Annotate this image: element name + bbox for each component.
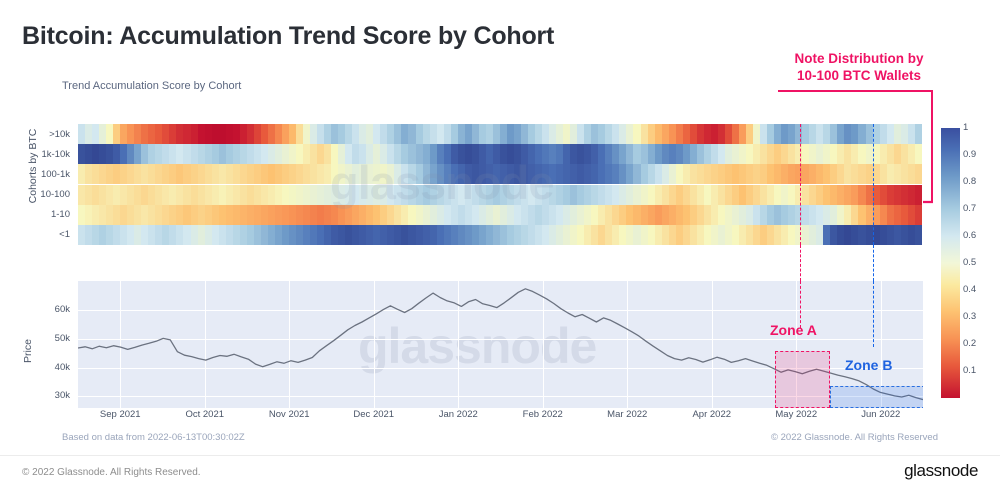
heatmap-cell — [408, 164, 415, 184]
heatmap-cell — [155, 144, 162, 164]
heatmap-cell — [366, 225, 373, 245]
heatmap-cell — [472, 124, 479, 144]
heatmap-cell — [605, 144, 612, 164]
heatmap-y-tick-label: 100-1k — [22, 164, 74, 184]
heatmap-cell — [198, 124, 205, 144]
heatmap-cell — [858, 205, 865, 225]
heatmap-cell — [254, 164, 261, 184]
heatmap-cell — [106, 205, 113, 225]
heatmap-cell — [205, 185, 212, 205]
heatmap-cell — [275, 185, 282, 205]
heatmap-cell — [837, 124, 844, 144]
heatmap-cell — [92, 225, 99, 245]
heatmap-cell — [908, 225, 915, 245]
heatmap-cell — [141, 185, 148, 205]
heatmap-cell — [233, 185, 240, 205]
heatmap-cell — [584, 205, 591, 225]
heatmap-cell — [612, 185, 619, 205]
heatmap-cell — [809, 144, 816, 164]
heatmap-cell — [106, 124, 113, 144]
heatmap-cell — [183, 185, 190, 205]
heatmap-cell — [380, 124, 387, 144]
heatmap-cell — [99, 124, 106, 144]
heatmap-cell — [296, 205, 303, 225]
heatmap-cell — [296, 164, 303, 184]
source-note: Based on data from 2022-06-13T00:30:02Z — [62, 432, 245, 443]
heatmap-cell — [373, 205, 380, 225]
heatmap-cell — [486, 225, 493, 245]
heatmap-cell — [697, 225, 704, 245]
heatmap-y-tick-label: 1k-10k — [22, 144, 74, 164]
heatmap-cell — [669, 144, 676, 164]
heatmap-cell — [437, 124, 444, 144]
heatmap-cell — [106, 225, 113, 245]
heatmap-cell — [423, 124, 430, 144]
heatmap-cell — [760, 144, 767, 164]
heatmap-cell — [373, 124, 380, 144]
heatmap-cell — [155, 124, 162, 144]
heatmap-cell — [317, 205, 324, 225]
price-y-tick-label: 60k — [55, 304, 70, 315]
heatmap-cell — [641, 144, 648, 164]
heatmap-cell — [99, 205, 106, 225]
heatmap-cell — [774, 205, 781, 225]
heatmap-cell — [549, 225, 556, 245]
heatmap-cell — [458, 124, 465, 144]
heatmap-cell — [451, 205, 458, 225]
heatmap-cell — [648, 225, 655, 245]
heatmap-cell — [352, 164, 359, 184]
heatmap-cell — [162, 185, 169, 205]
heatmap-y-tick-label: >10k — [22, 124, 74, 144]
heatmap-cell — [317, 164, 324, 184]
heatmap-cell — [465, 124, 472, 144]
heatmap-cell — [219, 144, 226, 164]
heatmap-cell — [240, 225, 247, 245]
colorbar-tick-label: 0.6 — [963, 230, 976, 241]
heatmap-cell — [99, 225, 106, 245]
heatmap-cell — [648, 124, 655, 144]
heatmap-cell — [465, 205, 472, 225]
heatmap-cell — [598, 185, 605, 205]
heatmap-cell — [387, 205, 394, 225]
heatmap-cell — [155, 205, 162, 225]
heatmap-cell — [655, 185, 662, 205]
heatmap-cell — [169, 205, 176, 225]
heatmap-row — [78, 205, 923, 225]
heatmap-cell — [760, 164, 767, 184]
heatmap-cell — [641, 185, 648, 205]
heatmap-cell — [394, 205, 401, 225]
heatmap-cell — [802, 164, 809, 184]
heatmap-cell — [549, 205, 556, 225]
heatmap-cell — [690, 124, 697, 144]
heatmap-cell — [908, 124, 915, 144]
heatmap-cell — [866, 124, 873, 144]
heatmap-cell — [641, 225, 648, 245]
heatmap-cell — [725, 225, 732, 245]
heatmap-cell — [183, 164, 190, 184]
heatmap-cell — [866, 185, 873, 205]
heatmap-cell — [809, 185, 816, 205]
heatmap-cell — [823, 124, 830, 144]
heatmap-cell — [711, 164, 718, 184]
heatmap-cell — [851, 144, 858, 164]
heatmap-cell — [394, 124, 401, 144]
heatmap-cell — [619, 144, 626, 164]
heatmap-cell — [619, 225, 626, 245]
heatmap-cell — [162, 164, 169, 184]
heatmap-cell — [915, 185, 922, 205]
heatmap-cell — [746, 205, 753, 225]
heatmap-cell — [725, 205, 732, 225]
heatmap-cell — [317, 225, 324, 245]
heatmap-cell — [106, 164, 113, 184]
heatmap-cell — [275, 225, 282, 245]
heatmap-cell — [373, 164, 380, 184]
heatmap-cell — [162, 144, 169, 164]
heatmap-cell — [605, 124, 612, 144]
colorbar-tick-label: 0.7 — [963, 203, 976, 214]
heatmap-cell — [781, 124, 788, 144]
heatmap-cell — [816, 225, 823, 245]
heatmap-cell — [169, 144, 176, 164]
x-axis-tick-labels: Sep 2021Oct 2021Nov 2021Dec 2021Jan 2022… — [0, 409, 1000, 425]
heatmap-cell — [774, 144, 781, 164]
heatmap-cell — [247, 124, 254, 144]
heatmap-cell — [718, 185, 725, 205]
heatmap-cell — [676, 164, 683, 184]
heatmap-cell — [626, 225, 633, 245]
heatmap-cell — [310, 164, 317, 184]
heatmap-cell — [141, 124, 148, 144]
heatmap-cell — [493, 185, 500, 205]
heatmap-cell — [648, 185, 655, 205]
annotation-connector-line — [931, 90, 933, 202]
heatmap-cell — [387, 164, 394, 184]
heatmap-cell — [169, 164, 176, 184]
heatmap-cell — [198, 144, 205, 164]
heatmap-cell — [577, 144, 584, 164]
heatmap-cell — [697, 144, 704, 164]
heatmap-cell — [113, 225, 120, 245]
heatmap-cell — [774, 164, 781, 184]
heatmap-cell — [901, 124, 908, 144]
heatmap-cell — [92, 124, 99, 144]
heatmap-cell — [648, 205, 655, 225]
heatmap-cell — [760, 225, 767, 245]
heatmap-cell — [704, 205, 711, 225]
heatmap-cell — [563, 205, 570, 225]
heatmap-cell — [331, 225, 338, 245]
heatmap-cell — [345, 205, 352, 225]
heatmap-cell — [662, 144, 669, 164]
heatmap-cell — [507, 185, 514, 205]
heatmap-row — [78, 185, 923, 205]
heatmap-cell — [816, 144, 823, 164]
heatmap-cell — [155, 185, 162, 205]
heatmap-cell — [683, 185, 690, 205]
heatmap-cell — [887, 124, 894, 144]
heatmap-cell — [795, 205, 802, 225]
heatmap-cell — [676, 225, 683, 245]
heatmap-cell — [416, 164, 423, 184]
heatmap-cell — [493, 164, 500, 184]
heatmap-cell — [556, 185, 563, 205]
heatmap-cell — [591, 124, 598, 144]
heatmap-cell — [444, 164, 451, 184]
heatmap-cell — [324, 124, 331, 144]
heatmap-cell — [310, 185, 317, 205]
heatmap-cell — [844, 205, 851, 225]
heatmap-cell — [401, 205, 408, 225]
heatmap-cell — [254, 225, 261, 245]
heatmap-cell — [282, 124, 289, 144]
heatmap-cell — [127, 225, 134, 245]
heatmap-cell — [563, 225, 570, 245]
price-y-tick-label: 40k — [55, 362, 70, 373]
heatmap-cell — [324, 205, 331, 225]
heatmap-cell — [866, 205, 873, 225]
heatmap-cell — [500, 225, 507, 245]
heatmap-cell — [605, 225, 612, 245]
heatmap-cell — [605, 185, 612, 205]
heatmap-cell — [739, 185, 746, 205]
heatmap-cell — [317, 124, 324, 144]
heatmap-cell — [570, 144, 577, 164]
heatmap-cell — [844, 185, 851, 205]
heatmap-cell — [718, 225, 725, 245]
heatmap-cell — [212, 205, 219, 225]
heatmap-cell — [106, 185, 113, 205]
heatmap-cell — [830, 185, 837, 205]
heatmap-cell — [669, 205, 676, 225]
heatmap-cell — [626, 205, 633, 225]
heatmap-cell — [648, 144, 655, 164]
heatmap-cell — [598, 144, 605, 164]
heatmap-cell — [233, 164, 240, 184]
heatmap-cell — [746, 185, 753, 205]
heatmap-cell — [915, 205, 922, 225]
heatmap-cell — [261, 225, 268, 245]
heatmap-cell — [120, 185, 127, 205]
heatmap-cell — [219, 205, 226, 225]
heatmap-cell — [830, 225, 837, 245]
heatmap-cell — [493, 124, 500, 144]
heatmap-cell — [774, 124, 781, 144]
heatmap-cell — [324, 225, 331, 245]
heatmap-cell — [718, 205, 725, 225]
heatmap-cell — [394, 185, 401, 205]
heatmap-cell — [662, 164, 669, 184]
heatmap-cell — [732, 124, 739, 144]
heatmap-cell — [746, 144, 753, 164]
heatmap-cell — [915, 144, 922, 164]
heatmap-cell — [134, 124, 141, 144]
heatmap-cell — [507, 225, 514, 245]
heatmap-cell — [655, 205, 662, 225]
heatmap-cell — [394, 164, 401, 184]
heatmap-cell — [113, 124, 120, 144]
heatmap-cell — [331, 205, 338, 225]
heatmap-cell — [366, 205, 373, 225]
heatmap-cell — [479, 144, 486, 164]
heatmap-cell — [352, 205, 359, 225]
heatmap-cell — [577, 205, 584, 225]
heatmap-cell — [830, 124, 837, 144]
heatmap-cell — [521, 225, 528, 245]
heatmap-cell — [577, 185, 584, 205]
heatmap-cell — [746, 164, 753, 184]
heatmap-cell — [380, 205, 387, 225]
heatmap-cell — [556, 144, 563, 164]
heatmap-cell — [725, 185, 732, 205]
heatmap-cell — [866, 144, 873, 164]
heatmap-cell — [366, 144, 373, 164]
heatmap-cell — [345, 185, 352, 205]
heatmap-cell — [549, 124, 556, 144]
heatmap-cell — [851, 124, 858, 144]
heatmap-cell — [683, 164, 690, 184]
heatmap-cell — [570, 225, 577, 245]
heatmap-cell — [324, 144, 331, 164]
heatmap-cell — [591, 225, 598, 245]
x-axis-tick-label: Jun 2022 — [861, 409, 900, 420]
heatmap-cell — [809, 205, 816, 225]
heatmap-cell — [690, 225, 697, 245]
heatmap-cell — [458, 144, 465, 164]
heatmap-cell — [542, 225, 549, 245]
heatmap-cell — [416, 144, 423, 164]
heatmap-cell — [205, 164, 212, 184]
footer-copyright: © 2022 Glassnode. All Rights Reserved. — [22, 467, 201, 478]
heatmap-cell — [176, 124, 183, 144]
heatmap-cell — [760, 124, 767, 144]
heatmap-cell — [437, 164, 444, 184]
heatmap-cell — [880, 225, 887, 245]
heatmap-cell — [359, 225, 366, 245]
heatmap-cell — [401, 225, 408, 245]
heatmap-cell — [901, 205, 908, 225]
heatmap-cell — [690, 185, 697, 205]
heatmap-cell — [141, 144, 148, 164]
heatmap-cell — [176, 185, 183, 205]
heatmap-cell — [451, 144, 458, 164]
heatmap-cell — [809, 164, 816, 184]
heatmap-cell — [331, 124, 338, 144]
heatmap-cell — [219, 164, 226, 184]
heatmap-cell — [148, 144, 155, 164]
heatmap-cell — [662, 225, 669, 245]
heatmap-cell — [176, 164, 183, 184]
heatmap-cell — [781, 185, 788, 205]
heatmap-cell — [844, 164, 851, 184]
heatmap-cell — [183, 124, 190, 144]
heatmap-cell — [725, 144, 732, 164]
heatmap-cell — [788, 124, 795, 144]
heatmap-cell — [704, 124, 711, 144]
heatmap-cell — [500, 185, 507, 205]
heatmap-cell — [598, 225, 605, 245]
heatmap-cell — [641, 164, 648, 184]
heatmap-cell — [423, 205, 430, 225]
heatmap-cell — [633, 144, 640, 164]
heatmap-cell — [823, 164, 830, 184]
heatmap-cell — [198, 185, 205, 205]
heatmap-cell — [380, 164, 387, 184]
heatmap-cell — [493, 225, 500, 245]
heatmap-cell — [465, 185, 472, 205]
heatmap-cell — [78, 124, 85, 144]
x-axis-tick-label: Nov 2021 — [269, 409, 310, 420]
heatmap-cell — [767, 144, 774, 164]
price-plot: glassnode — [78, 281, 923, 408]
heatmap-cell — [781, 205, 788, 225]
heatmap-cell — [816, 185, 823, 205]
heatmap-cell — [191, 124, 198, 144]
heatmap-cell — [802, 124, 809, 144]
heatmap-plot — [78, 124, 923, 245]
heatmap-cell — [626, 185, 633, 205]
heatmap-cell — [500, 164, 507, 184]
heatmap-cell — [113, 164, 120, 184]
heatmap-cell — [528, 205, 535, 225]
heatmap-cell — [268, 164, 275, 184]
price-y-tick-labels: 60k50k40k30k — [30, 278, 74, 408]
heatmap-cell — [120, 144, 127, 164]
heatmap-cell — [837, 144, 844, 164]
heatmap-cell — [908, 205, 915, 225]
heatmap-cell — [767, 124, 774, 144]
zone-a-label: Zone A — [770, 322, 817, 338]
heatmap-cell — [887, 185, 894, 205]
heatmap-cell — [479, 225, 486, 245]
heatmap-cell — [697, 164, 704, 184]
heatmap-cell — [507, 164, 514, 184]
heatmap-cell — [444, 144, 451, 164]
heatmap-cell — [408, 124, 415, 144]
heatmap-cell — [535, 144, 542, 164]
heatmap-cell — [352, 144, 359, 164]
heatmap-cell — [141, 164, 148, 184]
heatmap-cell — [915, 164, 922, 184]
heatmap-cell — [324, 185, 331, 205]
heatmap-cell — [556, 205, 563, 225]
heatmap-cell — [676, 144, 683, 164]
heatmap-cell — [486, 185, 493, 205]
heatmap-cell — [542, 185, 549, 205]
heatmap-cell — [169, 124, 176, 144]
heatmap-cell — [437, 225, 444, 245]
heatmap-cell — [416, 205, 423, 225]
heatmap-cell — [767, 225, 774, 245]
heatmap-cell — [802, 144, 809, 164]
heatmap-cell — [837, 225, 844, 245]
heatmap-cell — [261, 185, 268, 205]
heatmap-cell — [359, 164, 366, 184]
heatmap-cell — [535, 185, 542, 205]
heatmap-cell — [458, 205, 465, 225]
heatmap-cell — [380, 144, 387, 164]
heatmap-cell — [788, 144, 795, 164]
heatmap-cell — [528, 124, 535, 144]
heatmap-cell — [697, 205, 704, 225]
heatmap-cell — [908, 144, 915, 164]
heatmap-cell — [605, 164, 612, 184]
heatmap-cell — [359, 124, 366, 144]
heatmap-cell — [296, 124, 303, 144]
heatmap-cell — [598, 164, 605, 184]
